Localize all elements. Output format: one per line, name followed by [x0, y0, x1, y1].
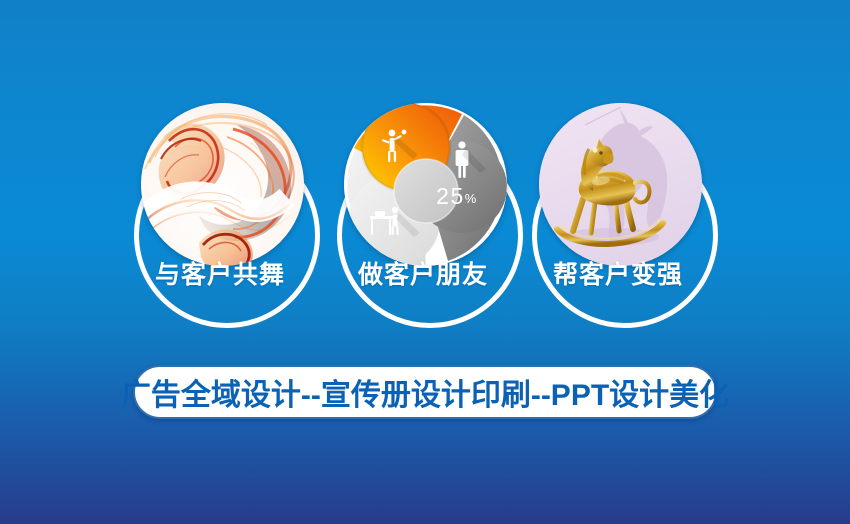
feature-image-golden-rocking-horse-with-shadow: [539, 103, 702, 266]
feature-image-orange-smoke-swirl-artwork: [141, 103, 304, 266]
tagline-banner[interactable]: 广告全域设计--宣传册设计印刷--PPT设计美化: [133, 365, 717, 419]
poster-canvas: 与客户共舞: [0, 0, 850, 524]
feature-label-help-client-grow: 帮客户变强: [525, 255, 711, 291]
feature-card-friend-of-client[interactable]: 25% 做客户朋友: [330, 95, 530, 340]
feature-label-dance-with-client: 与客户共舞: [127, 255, 313, 291]
feature-card-help-client-grow[interactable]: 帮客户变强: [525, 95, 725, 340]
feature-label-friend-of-client: 做客户朋友: [330, 255, 516, 291]
tagline-banner-text: 广告全域设计--宣传册设计印刷--PPT设计美化: [121, 370, 729, 414]
feature-image-pie-chart-infographic: 25%: [344, 103, 507, 266]
feature-card-dance-with-client[interactable]: 与客户共舞: [127, 95, 327, 340]
